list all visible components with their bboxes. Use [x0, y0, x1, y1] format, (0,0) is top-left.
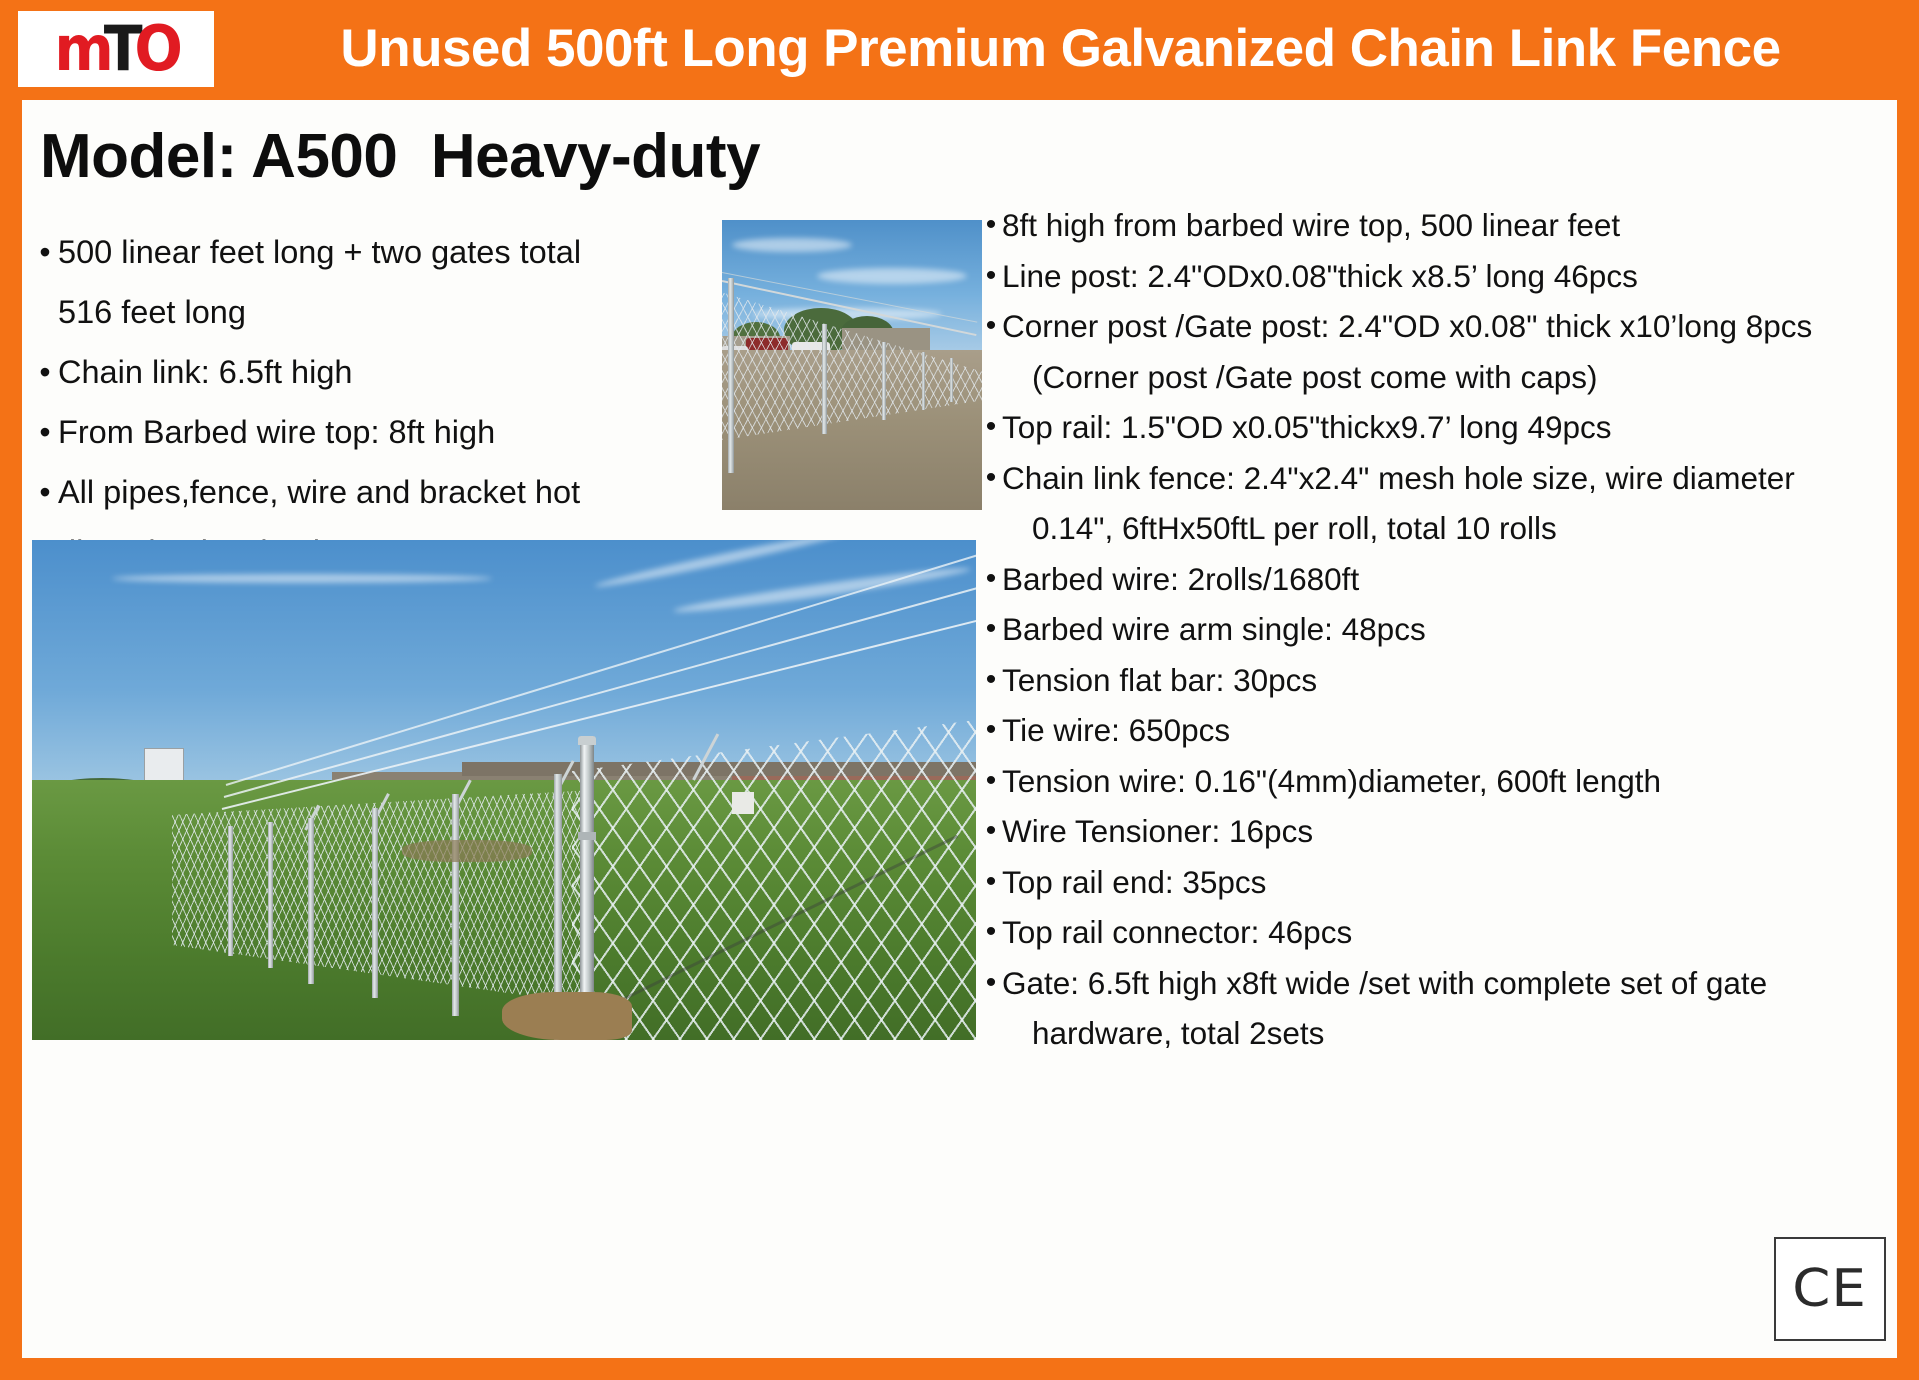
list-item-label: Top rail: 1.5"OD x0.05"thickx9.7’ long 4…: [1002, 402, 1888, 453]
list-item: • Tie wire: 650pcs: [980, 705, 1888, 756]
list-item: • Top rail connector: 46pcs: [980, 907, 1888, 958]
list-item-label: Tension flat bar: 30pcs: [1002, 655, 1888, 706]
bullet-icon: •: [980, 200, 1002, 251]
list-item-label: Wire Tensioner: 16pcs: [1002, 806, 1888, 857]
list-item: • Gate: 6.5ft high x8ft wide /set with c…: [980, 958, 1888, 1009]
bullet-icon: •: [32, 222, 58, 282]
list-item-label: Gate: 6.5ft high x8ft wide /set with com…: [1002, 958, 1888, 1009]
bullet-icon: •: [980, 402, 1002, 453]
list-item-label: Corner post /Gate post: 2.4"OD x0.08" th…: [1002, 301, 1888, 352]
logo-letter-m: m: [54, 18, 109, 80]
list-item-wrap-label: 516 feet long: [58, 282, 692, 342]
logo-letter-o: O: [134, 18, 178, 80]
bullet-icon: •: [980, 806, 1002, 857]
bullet-icon: •: [980, 604, 1002, 655]
list-item: • Chain link fence: 2.4"x2.4" mesh hole …: [980, 453, 1888, 504]
header-banner: mTO Unused 500ft Long Premium Galvanized…: [0, 0, 1919, 98]
bullet-icon: •: [980, 301, 1002, 352]
list-item-label: Barbed wire: 2rolls/1680ft: [1002, 554, 1888, 605]
bullet-icon: •: [32, 342, 58, 402]
list-item-wrap-label: 0.14", 6ftHx50ftL per roll, total 10 rol…: [980, 503, 1888, 554]
list-item-label: Top rail end: 35pcs: [1002, 857, 1888, 908]
bullet-icon: •: [980, 453, 1002, 504]
list-item-label: All pipes,fence, wire and bracket hot: [58, 462, 692, 522]
list-item-continuation: 516 feet long: [32, 282, 692, 342]
product-spec-sheet: mTO Unused 500ft Long Premium Galvanized…: [0, 0, 1919, 1380]
bullet-icon: •: [32, 402, 58, 462]
list-item-label: Barbed wire arm single: 48pcs: [1002, 604, 1888, 655]
list-item-label: Line post: 2.4"ODx0.08"thick x8.5’ long …: [1002, 251, 1888, 302]
model-heading: Model: A500 Heavy-duty: [40, 124, 760, 190]
bullet-icon: •: [980, 554, 1002, 605]
list-item: • Top rail: 1.5"OD x0.05"thickx9.7’ long…: [980, 402, 1888, 453]
bullet-icon: •: [980, 857, 1002, 908]
ce-mark-label: CE: [1793, 1263, 1868, 1315]
list-item: • 8ft high from barbed wire top, 500 lin…: [980, 200, 1888, 251]
list-item: • Top rail end: 35pcs: [980, 857, 1888, 908]
list-item-label: Tie wire: 650pcs: [1002, 705, 1888, 756]
bullet-icon: •: [980, 251, 1002, 302]
list-item: • Barbed wire: 2rolls/1680ft: [980, 554, 1888, 605]
left-spec-list: • 500 linear feet long + two gates total…: [32, 222, 692, 582]
fence-photo-gravel-lot: [722, 220, 982, 510]
list-item: • Tension flat bar: 30pcs: [980, 655, 1888, 706]
right-spec-list: • 8ft high from barbed wire top, 500 lin…: [980, 200, 1888, 1059]
content-card: Model: A500 Heavy-duty • 500 linear feet…: [22, 100, 1897, 1358]
list-item: • All pipes,fence, wire and bracket hot: [32, 462, 692, 522]
list-item-label: 500 linear feet long + two gates total: [58, 222, 692, 282]
list-item: • Tension wire: 0.16"(4mm)diameter, 600f…: [980, 756, 1888, 807]
fence-photo-grass-field: [32, 540, 976, 1040]
list-item: • Corner post /Gate post: 2.4"OD x0.08" …: [980, 301, 1888, 352]
list-item-label: From Barbed wire top: 8ft high: [58, 402, 692, 462]
list-item-wrap-label: (Corner post /Gate post come with caps): [980, 352, 1888, 403]
list-item: • 500 linear feet long + two gates total: [32, 222, 692, 282]
mto-logo-text: mTO: [54, 18, 178, 80]
list-item-label: Chain link: 6.5ft high: [58, 342, 692, 402]
bullet-icon: •: [980, 655, 1002, 706]
list-item-wrap-label: hardware, total 2sets: [980, 1008, 1888, 1059]
list-item: • Chain link: 6.5ft high: [32, 342, 692, 402]
list-item: • Wire Tensioner: 16pcs: [980, 806, 1888, 857]
list-item: • Line post: 2.4"ODx0.08"thick x8.5’ lon…: [980, 251, 1888, 302]
mto-logo: mTO: [18, 11, 214, 87]
list-item-label: 8ft high from barbed wire top, 500 linea…: [1002, 200, 1888, 251]
list-item-label: Top rail connector: 46pcs: [1002, 907, 1888, 958]
logo-letter-t: T: [103, 18, 137, 80]
list-item-label: Chain link fence: 2.4"x2.4" mesh hole si…: [1002, 453, 1888, 504]
list-item: • Barbed wire arm single: 48pcs: [980, 604, 1888, 655]
ce-mark: CE: [1774, 1237, 1886, 1341]
list-item-label: Tension wire: 0.16"(4mm)diameter, 600ft …: [1002, 756, 1888, 807]
list-item: • From Barbed wire top: 8ft high: [32, 402, 692, 462]
bullet-icon: •: [980, 958, 1002, 1009]
bullet-icon: •: [32, 462, 58, 522]
page-title: Unused 500ft Long Premium Galvanized Cha…: [214, 21, 1919, 77]
bullet-icon: •: [980, 705, 1002, 756]
bullet-icon: •: [980, 756, 1002, 807]
bullet-icon: •: [980, 907, 1002, 958]
